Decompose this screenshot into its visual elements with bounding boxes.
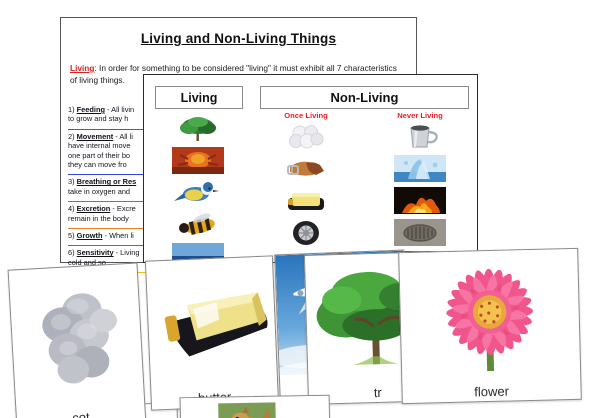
squirrel-icon [181, 396, 330, 418]
screenshot-stage: Living and Non-Living Things Living: In … [0, 0, 600, 418]
bird-icon [172, 179, 224, 206]
column-once-living [263, 123, 349, 246]
card-label: flower [402, 382, 580, 401]
metal-cup-icon [394, 123, 446, 150]
leather-belt-icon [280, 155, 332, 182]
item-index: 1) [68, 105, 75, 114]
crabs-icon [172, 147, 224, 174]
header-non-living: Non-Living [260, 86, 469, 109]
item-text: - When li [103, 231, 134, 240]
item-index: 5) [68, 231, 75, 240]
label-once-living: Once Living [266, 111, 346, 120]
item-name: Growth [77, 231, 103, 240]
page-title: Living and Non-Living Things [61, 31, 416, 46]
label-never-living: Never Living [380, 111, 460, 120]
item-name: Excretion [77, 204, 111, 213]
butter-dish-icon [146, 256, 277, 383]
item-index: 3) [68, 177, 75, 186]
item-text: - All li [113, 132, 133, 141]
item-text: - Living [114, 248, 140, 257]
card-butter[interactable]: butter [145, 255, 279, 410]
tree-icon [172, 115, 224, 142]
item-name: Breathing or Res [77, 177, 137, 186]
butter-icon [280, 187, 332, 214]
item-index: 2) [68, 132, 75, 141]
item-text: - Excre [110, 204, 135, 213]
item-text: - All livin [105, 105, 134, 114]
card-cotton[interactable]: cot [8, 262, 147, 418]
water-splash-icon [394, 155, 446, 182]
card-flower[interactable]: flower [398, 248, 582, 404]
flower-icon [399, 249, 580, 377]
card-label: cot [17, 406, 146, 418]
item-name: Sensitivity [77, 248, 114, 257]
item-name: Movement [77, 132, 114, 141]
fossil-icon [394, 219, 446, 246]
card-partial-squirrel[interactable] [180, 395, 331, 418]
tire-icon [280, 219, 332, 246]
intro-keyword: Living [70, 63, 94, 73]
sorting-mat-document[interactable]: Living Non-Living Once Living Never Livi… [143, 74, 478, 263]
cotton-balls-icon [280, 123, 332, 150]
column-living [155, 115, 241, 270]
item-index: 6) [68, 248, 75, 257]
item-name: Feeding [77, 105, 105, 114]
bee-icon [172, 211, 224, 238]
cotton-balls-icon [9, 264, 144, 405]
item-index: 4) [68, 204, 75, 213]
header-living: Living [155, 86, 243, 109]
fire-icon [394, 187, 446, 214]
